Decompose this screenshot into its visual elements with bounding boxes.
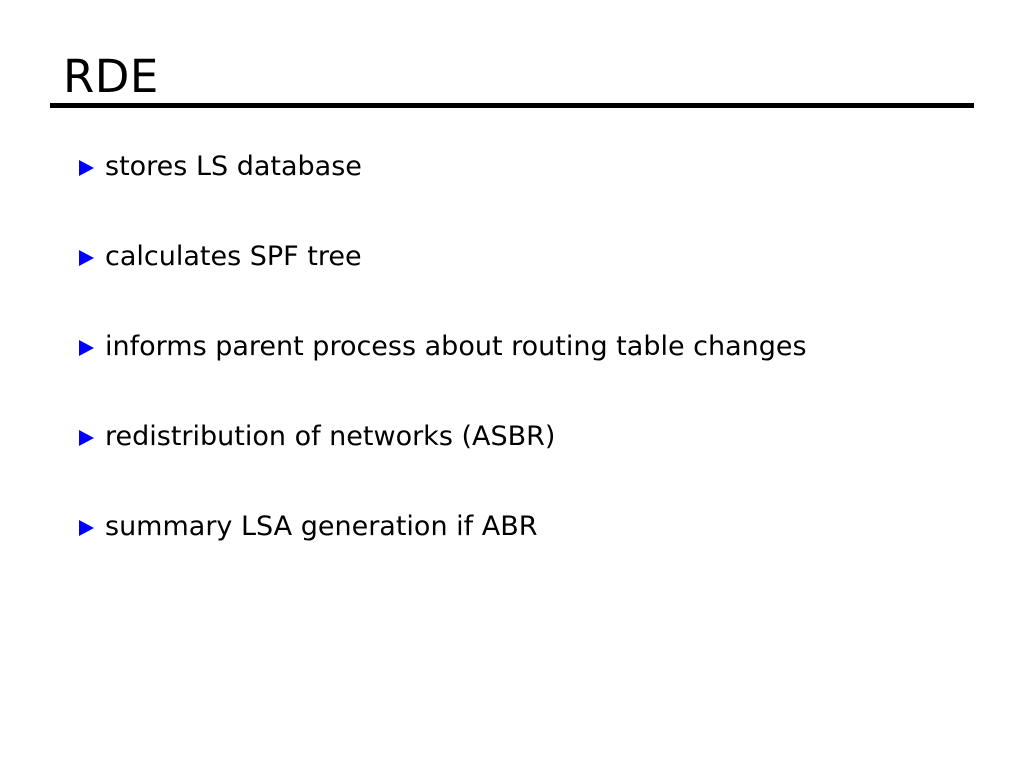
triangle-right-icon <box>79 250 94 266</box>
list-item-label: stores LS database <box>105 142 978 192</box>
presentation-slide: RDE stores LS database calculates SPF tr… <box>0 0 1024 768</box>
triangle-right-icon <box>79 430 94 446</box>
triangle-right-icon <box>79 340 94 356</box>
list-item-label: calculates SPF tree <box>105 232 978 282</box>
list-item: stores LS database <box>78 142 978 192</box>
list-item-label: informs parent process about routing tab… <box>105 322 823 372</box>
page-title: RDE <box>63 50 159 104</box>
list-item-label: redistribution of networks (ASBR) <box>105 412 978 462</box>
list-item-label: summary LSA generation if ABR <box>105 502 978 552</box>
triangle-right-icon <box>79 520 94 536</box>
list-item: summary LSA generation if ABR <box>78 502 978 552</box>
list-item: calculates SPF tree <box>78 232 978 282</box>
list-item: redistribution of networks (ASBR) <box>78 412 978 462</box>
list-item: informs parent process about routing tab… <box>78 322 823 372</box>
triangle-right-icon <box>79 160 94 176</box>
title-divider <box>50 103 974 108</box>
bullet-list: stores LS database calculates SPF tree i… <box>78 142 978 552</box>
